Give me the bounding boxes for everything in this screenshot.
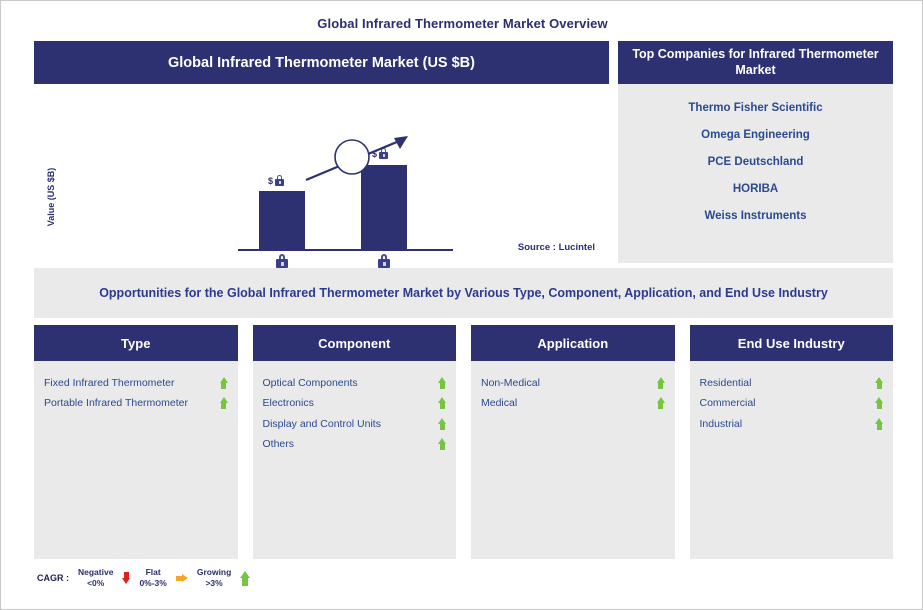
list-item: Commercial — [700, 393, 884, 413]
cagr-entry-range: 0%-3% — [139, 578, 166, 589]
cagr-legend-label: CAGR : — [37, 573, 69, 583]
growth-arrow-icon — [304, 132, 414, 187]
list-item: Medical — [481, 393, 665, 413]
segment-column-end-use-industry: End Use Industry Residential Commercial … — [690, 325, 894, 559]
chart-plot-area: Value (US $B) $ $ — [34, 84, 609, 263]
list-item: Fixed Infrared Thermometer — [44, 373, 228, 393]
arrow-up-icon — [657, 377, 665, 383]
segment-item-label: Industrial — [700, 416, 743, 432]
chart-x-axis-line — [238, 249, 453, 251]
chart-y-axis-label: Value (US $B) — [46, 152, 56, 242]
arrow-up-icon — [240, 571, 250, 578]
segment-item-label: Medical — [481, 395, 517, 411]
arrow-up-icon — [220, 397, 228, 403]
segment-column-header: Application — [471, 325, 675, 361]
segment-item-label: Optical Components — [263, 375, 358, 391]
segment-item-label: Electronics — [263, 395, 314, 411]
cagr-legend: CAGR : Negative <0% Flat 0%-3% Growing >… — [37, 567, 250, 590]
cagr-legend-entry-growing: Growing >3% — [197, 567, 231, 590]
market-chart-card: Global Infrared Thermometer Market (US $… — [34, 41, 609, 263]
lock-icon — [378, 254, 390, 268]
list-item: PCE Deutschland — [624, 148, 887, 175]
lock-icon — [275, 175, 284, 186]
cagr-entry-name: Flat — [146, 567, 161, 578]
page-title: Global Infrared Thermometer Market Overv… — [1, 16, 923, 31]
top-companies-card: Top Companies for Infrared Thermometer M… — [618, 41, 893, 263]
list-item: Electronics — [263, 393, 447, 413]
list-item: Industrial — [700, 414, 884, 434]
arrow-up-icon — [438, 377, 446, 383]
list-item: Display and Control Units — [263, 414, 447, 434]
list-item: Non-Medical — [481, 373, 665, 393]
arrow-right-icon — [182, 574, 188, 582]
chart-bar-1-value-label: $ — [268, 175, 284, 186]
segment-item-label: Commercial — [700, 395, 756, 411]
cagr-entry-range: <0% — [87, 578, 104, 589]
list-item: HORIBA — [624, 175, 887, 202]
cagr-entry-name: Negative — [78, 567, 113, 578]
segment-column-items: Optical Components Electronics Display a… — [253, 361, 457, 454]
segment-column-component: Component Optical Components Electronics… — [253, 325, 457, 559]
segment-column-items: Fixed Infrared Thermometer Portable Infr… — [34, 361, 238, 414]
cagr-legend-entry-negative: Negative <0% — [78, 567, 113, 590]
top-companies-list: Thermo Fisher Scientific Omega Engineeri… — [618, 84, 893, 235]
segment-item-label: Portable Infrared Thermometer — [44, 395, 188, 411]
list-item: Portable Infrared Thermometer — [44, 393, 228, 413]
arrow-up-icon — [875, 377, 883, 383]
chart-card-header: Global Infrared Thermometer Market (US $… — [34, 41, 609, 84]
dollar-sign: $ — [268, 176, 273, 186]
chart-source-note: Source : Lucintel — [518, 242, 595, 253]
segment-column-header: Type — [34, 325, 238, 361]
list-item: Thermo Fisher Scientific — [624, 94, 887, 121]
arrow-up-icon — [875, 397, 883, 403]
segment-item-label: Residential — [700, 375, 752, 391]
segment-item-label: Non-Medical — [481, 375, 540, 391]
arrow-up-icon — [220, 377, 228, 383]
arrow-up-icon — [438, 397, 446, 403]
lock-icon — [276, 254, 288, 268]
arrow-up-icon — [875, 418, 883, 424]
chart-x-tick-2 — [361, 254, 407, 268]
list-item: Optical Components — [263, 373, 447, 393]
segment-column-type: Type Fixed Infrared Thermometer Portable… — [34, 325, 238, 559]
arrow-down-icon — [122, 578, 130, 584]
segment-item-label: Fixed Infrared Thermometer — [44, 375, 175, 391]
list-item: Weiss Instruments — [624, 202, 887, 229]
cagr-legend-entry-flat: Flat 0%-3% — [139, 567, 166, 590]
arrow-up-icon — [438, 438, 446, 444]
segment-columns: Type Fixed Infrared Thermometer Portable… — [34, 325, 893, 559]
infographic-page: Global Infrared Thermometer Market Overv… — [0, 0, 923, 610]
opportunities-banner: Opportunities for the Global Infrared Th… — [34, 268, 893, 318]
list-item: Others — [263, 434, 447, 454]
arrow-up-icon — [657, 397, 665, 403]
segment-item-label: Others — [263, 436, 295, 452]
segment-column-header: End Use Industry — [690, 325, 894, 361]
list-item: Omega Engineering — [624, 121, 887, 148]
list-item: Residential — [700, 373, 884, 393]
segment-item-label: Display and Control Units — [263, 416, 381, 432]
chart-x-tick-1 — [259, 254, 305, 268]
cagr-entry-range: >3% — [205, 578, 222, 589]
segment-column-items: Non-Medical Medical — [471, 361, 675, 414]
chart-bar-1 — [259, 191, 305, 249]
segment-column-items: Residential Commercial Industrial — [690, 361, 894, 434]
segment-column-header: Component — [253, 325, 457, 361]
top-companies-header: Top Companies for Infrared Thermometer M… — [618, 41, 893, 84]
cagr-entry-name: Growing — [197, 567, 231, 578]
segment-column-application: Application Non-Medical Medical — [471, 325, 675, 559]
arrow-up-icon — [438, 418, 446, 424]
